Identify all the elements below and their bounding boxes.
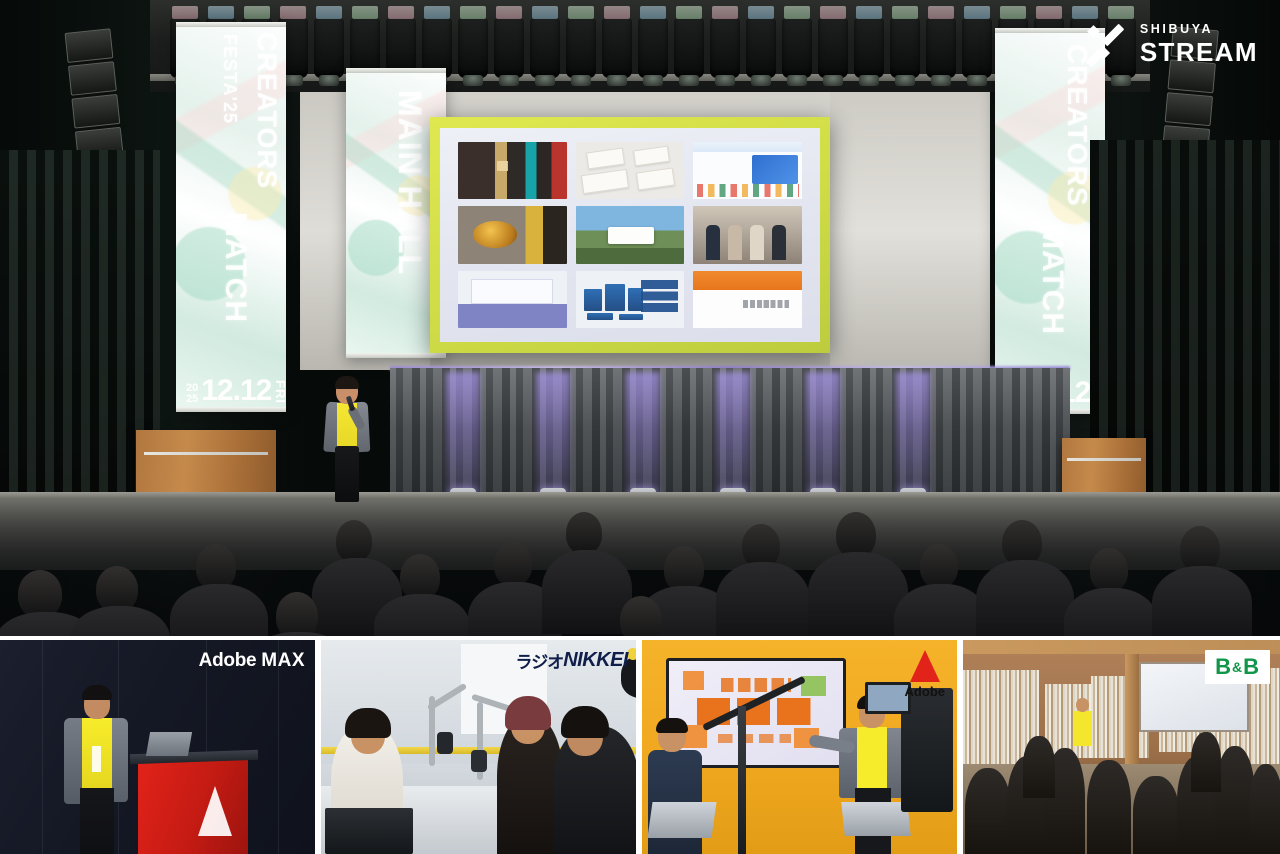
nikkei-label: NIKKEI — [563, 649, 628, 672]
slide-cell-gaprise — [693, 271, 802, 328]
stage-light-icon — [458, 18, 488, 78]
stage-light-icon — [890, 18, 920, 78]
stage-light-icon — [854, 18, 884, 78]
bookstore-presenter — [1071, 698, 1093, 746]
stage-light-icon — [638, 18, 668, 78]
stage-presenter — [318, 378, 378, 506]
laptop-icon — [647, 802, 716, 838]
stage-light-icon — [494, 18, 524, 78]
main-stage-photo: CREATORS MATCH FESTA'25 20 25 12.12 FRI … — [0, 0, 1280, 636]
stage-light-icon — [926, 18, 956, 78]
banner-date-year-bottom: 25 — [186, 394, 198, 404]
thumbnail-adobe-max[interactable]: Adobe MAX — [0, 640, 315, 854]
adobe-logo-icon — [198, 786, 232, 836]
stage-light-icon — [530, 18, 560, 78]
bb-letter-second: B — [1243, 654, 1260, 680]
venue-logo: SHIBUYA STREAM — [1084, 22, 1258, 66]
banner-line-creators: CREATORS — [251, 32, 282, 189]
max-label: MAX — [261, 650, 305, 672]
projection-screen — [430, 117, 830, 353]
slide-cell-booth — [458, 271, 567, 328]
slide-content-grid — [440, 128, 820, 342]
stage-light-icon — [782, 18, 812, 78]
bb-ampersand: & — [1232, 659, 1243, 675]
stage-light-icon — [602, 18, 632, 78]
banner-date-year-top: 20 — [186, 383, 198, 393]
photo-collage: CREATORS MATCH FESTA'25 20 25 12.12 FRI … — [0, 0, 1280, 854]
uplight-beam — [536, 372, 570, 500]
banner-date-monthday: 12.12 — [201, 377, 271, 404]
thumbnail-bookstore-bb[interactable]: B & B — [963, 640, 1280, 854]
slide-cell-interior — [458, 142, 567, 199]
uplight-beam — [896, 372, 930, 500]
uplight-beam — [806, 372, 840, 500]
studio-monitor — [325, 808, 413, 854]
slide-cell-milkstar — [576, 271, 685, 328]
banner-creators-match-left: CREATORS MATCH FESTA'25 20 25 12.12 FRI — [176, 22, 286, 412]
bb-letter-first: B — [1215, 654, 1232, 680]
wall-panel-right — [830, 60, 990, 370]
stage-light-icon — [566, 18, 596, 78]
adobe-logo-icon — [910, 650, 940, 682]
slide-cell-website — [693, 142, 802, 199]
uplight-beam — [446, 372, 480, 500]
banner-label-main-hall: MAIN HALL — [391, 90, 428, 275]
banner-line-match: MATCH — [218, 212, 252, 323]
screen-series-label — [718, 734, 791, 743]
banner-line-creators: CREATORS — [1061, 44, 1093, 207]
stage-light-icon — [314, 18, 344, 78]
uplight-beam — [716, 372, 750, 500]
tripod — [738, 706, 746, 854]
radio-nikkei-kana: ラジオ — [516, 648, 564, 673]
audience-area — [0, 500, 1280, 636]
radio-nikkei-wordmark: ラジオ NIKKEI — [516, 648, 628, 673]
adobe-label: Adobe — [199, 650, 257, 672]
adobe-label: Adobe — [905, 684, 945, 699]
stage-light-icon — [962, 18, 992, 78]
venue-logo-sub: SHIBUYA — [1140, 23, 1258, 36]
slide-cell-namecard — [576, 206, 685, 263]
thumbnail-radio-nikkei[interactable]: ラジオ NIKKEI — [321, 640, 636, 854]
shibuya-stream-logo-mark-icon — [1084, 22, 1128, 66]
stage-light-icon — [674, 18, 704, 78]
banner-creators-match-right: CREATORS MATCH 20 25 12.12 FRI — [995, 28, 1105, 414]
banner-line-match: MATCH — [1035, 224, 1069, 335]
slide-cell-staff — [693, 206, 802, 263]
microphone-icon — [437, 732, 453, 754]
adobe-max-wordmark: Adobe MAX — [199, 650, 305, 672]
uplight-beam — [626, 372, 660, 500]
slide-cell-stationery — [576, 142, 685, 199]
microphone-icon — [471, 750, 487, 772]
banner-line-festa: FESTA'25 — [219, 34, 240, 124]
stage-light-icon — [818, 18, 848, 78]
banner-date-left: 20 25 12.12 FRI — [186, 377, 286, 404]
stage-light-icon — [710, 18, 740, 78]
adobe-max-presenter — [62, 688, 128, 854]
thumbnail-adobe-livestream[interactable]: Adobe — [642, 640, 957, 854]
banner-date-dayofweek: FRI — [274, 380, 286, 404]
laptop-icon — [146, 732, 192, 756]
adobe-red-podium — [138, 760, 248, 854]
thumbnail-strip: Adobe MAX — [0, 640, 1280, 854]
stage-light-icon — [746, 18, 776, 78]
slide-cell-logo-gd — [458, 206, 567, 263]
adobe-logo-block: Adobe — [905, 650, 945, 699]
venue-logo-main: STREAM — [1140, 39, 1258, 65]
bb-bookstore-logo: B & B — [1205, 650, 1270, 684]
